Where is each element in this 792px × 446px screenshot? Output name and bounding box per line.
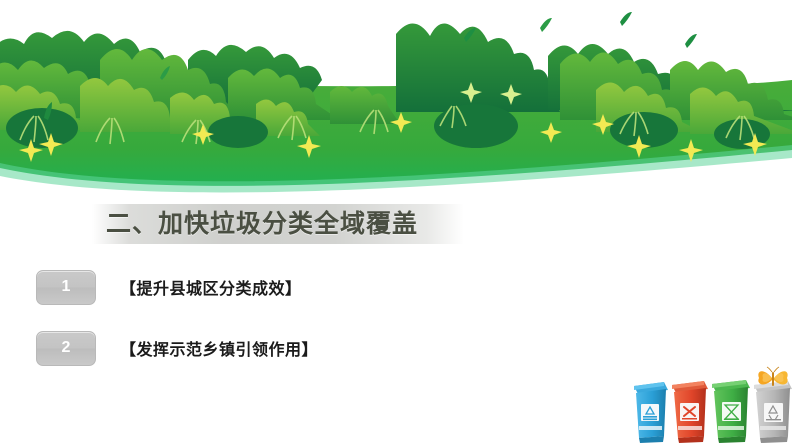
bin-blue-recyclable [634, 382, 668, 443]
bullet-text: 【提升县城区分类成效】 [120, 275, 302, 299]
title-text: 二、加快垃圾分类全域覆盖 [106, 206, 418, 242]
bin-gray-other-waste [754, 381, 792, 443]
green-foliage-banner [0, 0, 792, 205]
bullet-number-badge: 1 [36, 270, 96, 305]
bullet-number-badge: 2 [36, 331, 96, 366]
slide-canvas: 二、加快垃圾分类全域覆盖 1 【提升县城区分类成效】 2 【发挥示范乡镇引领作用… [0, 0, 792, 446]
bin-red-hazardous [672, 381, 708, 443]
list-item[interactable]: 2 【发挥示范乡镇引领作用】 [36, 330, 318, 366]
list-item[interactable]: 1 【提升县城区分类成效】 [36, 269, 302, 305]
page-title: 二、加快垃圾分类全域覆盖 [92, 204, 464, 244]
bin-green-kitchen-waste [712, 380, 750, 443]
butterfly-icon [758, 367, 787, 386]
recycling-bins-illustration [630, 366, 792, 446]
bullet-text: 【发挥示范乡镇引领作用】 [120, 336, 318, 360]
